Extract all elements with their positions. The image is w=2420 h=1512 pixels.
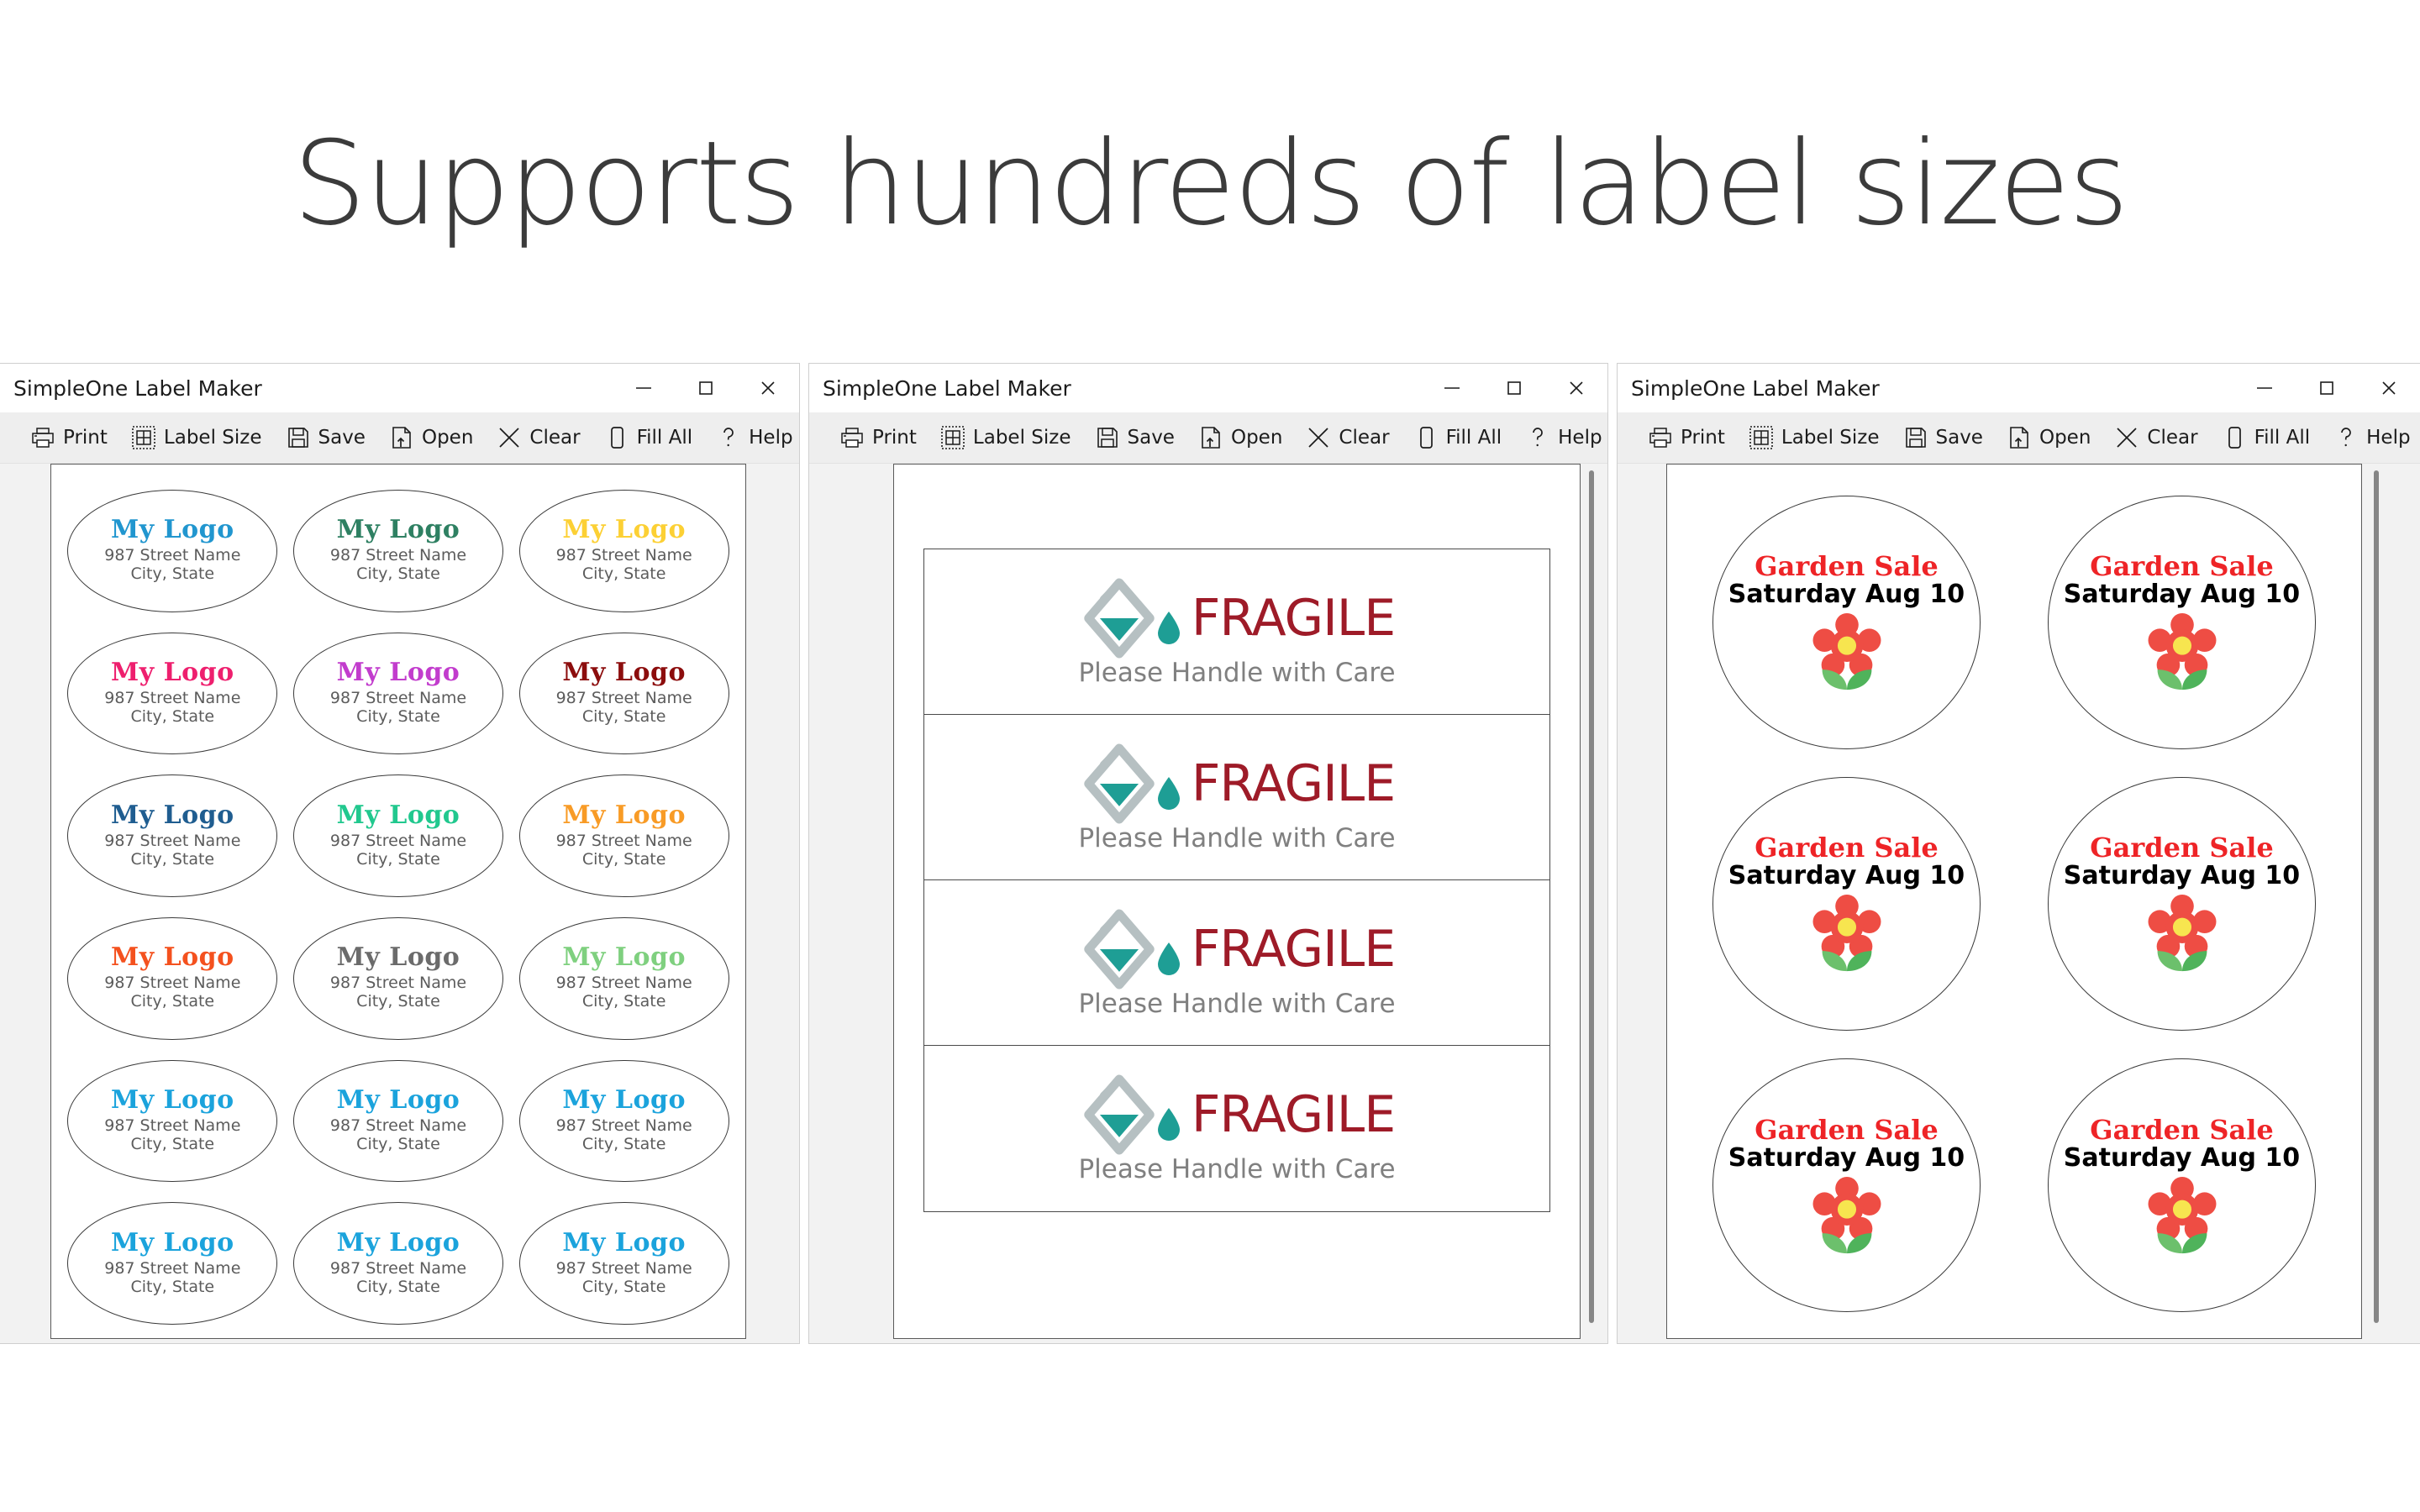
label-address: 987 Street NameCity, State bbox=[104, 832, 240, 869]
x-icon bbox=[1306, 425, 1331, 450]
label-address: 987 Street NameCity, State bbox=[330, 1260, 466, 1297]
oval-label-cell[interactable]: My Logo987 Street NameCity, State bbox=[60, 764, 286, 907]
label-address: 987 Street NameCity, State bbox=[556, 832, 692, 869]
address-line-2: City, State bbox=[104, 1136, 240, 1154]
maximize-button[interactable] bbox=[1483, 364, 1545, 412]
label-logo-text: My Logo bbox=[337, 1088, 460, 1113]
page-title: Supports hundreds of label sizes bbox=[0, 126, 2420, 242]
address-line-2: City, State bbox=[556, 565, 692, 584]
oval-label[interactable]: My Logo987 Street NameCity, State bbox=[67, 1060, 277, 1183]
oval-label-cell[interactable]: My Logo987 Street NameCity, State bbox=[60, 1050, 286, 1193]
address-line-1: 987 Street Name bbox=[556, 832, 692, 851]
clear-label: Clear bbox=[529, 427, 580, 449]
clear-button[interactable]: Clear bbox=[1294, 412, 1401, 463]
garden-sale-label-cell[interactable]: Garden SaleSaturday Aug 10 bbox=[1679, 481, 2014, 763]
toolbar: Print Label Size Save Open Clear Fill Al… bbox=[0, 412, 799, 464]
floppy-disk-icon bbox=[286, 425, 311, 450]
clear-label: Clear bbox=[1339, 427, 1389, 449]
x-icon bbox=[2114, 425, 2139, 450]
fragile-title: FRAGILE bbox=[1192, 1089, 1395, 1140]
x-icon bbox=[497, 425, 522, 450]
label-size-label: Label Size bbox=[1781, 427, 1880, 449]
window-label-maker-1: SimpleOne Label Maker Print Label Size S… bbox=[0, 363, 800, 1344]
label-address: 987 Street NameCity, State bbox=[556, 974, 692, 1011]
water-drop-icon bbox=[1156, 774, 1181, 811]
close-button[interactable] bbox=[2358, 364, 2420, 412]
garden-sale-title: Garden Sale bbox=[2090, 834, 2273, 861]
address-line-2: City, State bbox=[330, 1136, 466, 1154]
open-file-icon bbox=[389, 425, 414, 450]
printer-icon bbox=[1648, 425, 1673, 450]
address-line-2: City, State bbox=[330, 993, 466, 1011]
water-drop-icon bbox=[1156, 940, 1181, 977]
fragile-glass-icon bbox=[1079, 578, 1160, 659]
label-logo-text: My Logo bbox=[562, 660, 686, 685]
address-line-2: City, State bbox=[556, 993, 692, 1011]
oval-label[interactable]: My Logo987 Street NameCity, State bbox=[67, 633, 277, 755]
flower-icon bbox=[1808, 612, 1886, 691]
label-logo-text: My Logo bbox=[111, 660, 234, 685]
fragile-label-cell[interactable]: FRAGILEPlease Handle with Care bbox=[924, 1046, 1549, 1211]
garden-sale-label[interactable]: Garden SaleSaturday Aug 10 bbox=[1712, 496, 1981, 749]
print-label: Print bbox=[63, 427, 108, 449]
address-line-2: City, State bbox=[104, 1278, 240, 1297]
garden-sale-label[interactable]: Garden SaleSaturday Aug 10 bbox=[1712, 1058, 1981, 1312]
oval-label[interactable]: My Logo987 Street NameCity, State bbox=[519, 774, 729, 897]
oval-label[interactable]: My Logo987 Street NameCity, State bbox=[293, 1060, 503, 1183]
fragile-label-cell[interactable]: FRAGILEPlease Handle with Care bbox=[924, 715, 1549, 880]
label-logo-text: My Logo bbox=[562, 945, 686, 970]
water-drop-icon bbox=[1156, 609, 1181, 646]
garden-sale-date: Saturday Aug 10 bbox=[1728, 1146, 1965, 1171]
fragile-subtitle: Please Handle with Care bbox=[1078, 826, 1395, 852]
oval-label[interactable]: My Logo987 Street NameCity, State bbox=[519, 490, 729, 612]
fragile-subtitle: Please Handle with Care bbox=[1078, 1157, 1395, 1183]
oval-label-cell[interactable]: My Logo987 Street NameCity, State bbox=[286, 907, 512, 1050]
garden-sale-date: Saturday Aug 10 bbox=[1728, 582, 1965, 607]
label-logo-text: My Logo bbox=[337, 945, 460, 970]
oval-label-grid: My Logo987 Street NameCity, StateMy Logo… bbox=[60, 480, 737, 1335]
address-line-2: City, State bbox=[104, 993, 240, 1011]
window-controls bbox=[613, 364, 799, 412]
address-line-2: City, State bbox=[556, 851, 692, 869]
label-size-label: Label Size bbox=[973, 427, 1071, 449]
garden-sale-title: Garden Sale bbox=[1754, 1116, 1938, 1143]
label-address: 987 Street NameCity, State bbox=[556, 1117, 692, 1154]
address-line-1: 987 Street Name bbox=[104, 974, 240, 993]
save-button[interactable]: Save bbox=[1083, 412, 1186, 463]
fragile-glass-icon bbox=[1079, 743, 1160, 824]
toolbar: Print Label Size Save Open Clear Fill Al… bbox=[1618, 412, 2420, 464]
titlebar: SimpleOne Label Maker bbox=[1618, 364, 2420, 412]
oval-label[interactable]: My Logo987 Street NameCity, State bbox=[293, 490, 503, 612]
flower-icon bbox=[1808, 1176, 1886, 1255]
minimize-button[interactable] bbox=[613, 364, 675, 412]
titlebar: SimpleOne Label Maker bbox=[809, 364, 1607, 412]
question-mark-icon bbox=[716, 425, 741, 450]
oval-label[interactable]: My Logo987 Street NameCity, State bbox=[519, 1060, 729, 1183]
oval-label[interactable]: My Logo987 Street NameCity, State bbox=[519, 1202, 729, 1325]
oval-label[interactable]: My Logo987 Street NameCity, State bbox=[67, 1202, 277, 1325]
print-button[interactable]: Print bbox=[1636, 412, 1737, 463]
oval-label-cell[interactable]: My Logo987 Street NameCity, State bbox=[511, 622, 737, 765]
address-line-1: 987 Street Name bbox=[330, 547, 466, 565]
window-title: SimpleOne Label Maker bbox=[13, 376, 262, 401]
address-line-1: 987 Street Name bbox=[556, 690, 692, 708]
address-line-2: City, State bbox=[104, 851, 240, 869]
open-label: Open bbox=[2039, 427, 2091, 449]
fill-all-icon bbox=[1413, 425, 1439, 450]
label-logo-text: My Logo bbox=[111, 803, 234, 828]
label-address: 987 Street NameCity, State bbox=[556, 690, 692, 727]
label-size-button[interactable]: Label Size bbox=[929, 412, 1083, 463]
clear-button[interactable]: Clear bbox=[2102, 412, 2209, 463]
oval-label-cell[interactable]: My Logo987 Street NameCity, State bbox=[511, 1050, 737, 1193]
open-label: Open bbox=[1231, 427, 1282, 449]
address-line-2: City, State bbox=[104, 565, 240, 584]
open-button[interactable]: Open bbox=[1995, 412, 2102, 463]
oval-label-cell[interactable]: My Logo987 Street NameCity, State bbox=[60, 1192, 286, 1335]
minimize-button[interactable] bbox=[1421, 364, 1483, 412]
address-line-2: City, State bbox=[330, 708, 466, 727]
garden-sale-date: Saturday Aug 10 bbox=[2064, 1146, 2300, 1171]
fragile-glass-icon bbox=[1079, 909, 1160, 990]
fragile-title: FRAGILE bbox=[1192, 924, 1395, 974]
label-logo-text: My Logo bbox=[111, 517, 234, 543]
save-button[interactable]: Save bbox=[274, 412, 377, 463]
garden-sale-label-cell[interactable]: Garden SaleSaturday Aug 10 bbox=[2014, 481, 2349, 763]
garden-sale-label-cell[interactable]: Garden SaleSaturday Aug 10 bbox=[1679, 763, 2014, 1044]
label-canvas-3[interactable]: Garden SaleSaturday Aug 10Garden SaleSat… bbox=[1618, 464, 2420, 1344]
close-icon bbox=[1564, 375, 1589, 401]
address-line-1: 987 Street Name bbox=[104, 690, 240, 708]
toolbar: Print Label Size Save Open Clear Fill Al… bbox=[809, 412, 1607, 464]
label-size-button[interactable]: Label Size bbox=[1737, 412, 1891, 463]
oval-label[interactable]: My Logo987 Street NameCity, State bbox=[67, 774, 277, 897]
address-line-1: 987 Street Name bbox=[556, 1117, 692, 1136]
print-label: Print bbox=[872, 427, 917, 449]
minimize-icon bbox=[1439, 375, 1465, 401]
oval-label[interactable]: My Logo987 Street NameCity, State bbox=[293, 633, 503, 755]
address-line-2: City, State bbox=[556, 1278, 692, 1297]
fragile-title: FRAGILE bbox=[1192, 593, 1395, 643]
oval-label-cell[interactable]: My Logo987 Street NameCity, State bbox=[286, 1192, 512, 1335]
fill-all-label: Fill All bbox=[637, 427, 693, 449]
address-line-1: 987 Street Name bbox=[330, 974, 466, 993]
help-label: Help bbox=[1558, 427, 1602, 449]
oval-label[interactable]: My Logo987 Street NameCity, State bbox=[293, 917, 503, 1040]
print-button[interactable]: Print bbox=[828, 412, 929, 463]
fill-all-button[interactable]: Fill All bbox=[1402, 412, 1514, 463]
label-logo-text: My Logo bbox=[111, 1231, 234, 1256]
maximize-icon bbox=[2314, 375, 2339, 401]
fill-all-label: Fill All bbox=[2254, 427, 2311, 449]
close-button[interactable] bbox=[737, 364, 799, 412]
close-icon bbox=[755, 375, 781, 401]
label-address: 987 Street NameCity, State bbox=[556, 547, 692, 584]
open-button[interactable]: Open bbox=[1186, 412, 1294, 463]
oval-label-cell[interactable]: My Logo987 Street NameCity, State bbox=[60, 622, 286, 765]
oval-label[interactable]: My Logo987 Street NameCity, State bbox=[67, 917, 277, 1040]
window-title: SimpleOne Label Maker bbox=[1631, 376, 1880, 401]
help-button[interactable]: Help bbox=[2322, 412, 2420, 463]
fragile-subtitle: Please Handle with Care bbox=[1078, 991, 1395, 1017]
minimize-icon bbox=[631, 375, 656, 401]
label-canvas-1[interactable]: My Logo987 Street NameCity, StateMy Logo… bbox=[0, 464, 799, 1344]
address-line-1: 987 Street Name bbox=[330, 1260, 466, 1278]
minimize-icon bbox=[2252, 375, 2277, 401]
save-label: Save bbox=[1936, 427, 1983, 449]
grid-icon bbox=[1749, 425, 1774, 450]
label-address: 987 Street NameCity, State bbox=[104, 547, 240, 584]
garden-sale-label[interactable]: Garden SaleSaturday Aug 10 bbox=[1712, 777, 1981, 1031]
fill-all-icon bbox=[2222, 425, 2247, 450]
garden-sale-title: Garden Sale bbox=[1754, 834, 1938, 861]
garden-sale-title: Garden Sale bbox=[1754, 553, 1938, 580]
address-line-1: 987 Street Name bbox=[104, 832, 240, 851]
window-label-maker-3: SimpleOne Label Maker Print Label Size S… bbox=[1617, 363, 2420, 1344]
address-line-2: City, State bbox=[330, 1278, 466, 1297]
label-logo-text: My Logo bbox=[111, 1088, 234, 1113]
maximize-button[interactable] bbox=[675, 364, 737, 412]
garden-sale-label-grid: Garden SaleSaturday Aug 10Garden SaleSat… bbox=[1679, 481, 2349, 1326]
maximize-button[interactable] bbox=[2296, 364, 2358, 412]
garden-sale-label[interactable]: Garden SaleSaturday Aug 10 bbox=[2048, 496, 2316, 749]
help-button[interactable]: Help bbox=[704, 412, 800, 463]
address-line-1: 987 Street Name bbox=[104, 1260, 240, 1278]
oval-label-cell[interactable]: My Logo987 Street NameCity, State bbox=[511, 480, 737, 622]
label-page-1: My Logo987 Street NameCity, StateMy Logo… bbox=[50, 464, 746, 1339]
clear-button[interactable]: Clear bbox=[485, 412, 592, 463]
label-page-2: FRAGILEPlease Handle with CareFRAGILEPle… bbox=[893, 464, 1581, 1339]
label-logo-text: My Logo bbox=[562, 803, 686, 828]
garden-sale-title: Garden Sale bbox=[2090, 1116, 2273, 1143]
help-label: Help bbox=[2366, 427, 2410, 449]
address-line-1: 987 Street Name bbox=[556, 974, 692, 993]
address-line-2: City, State bbox=[330, 851, 466, 869]
save-button[interactable]: Save bbox=[1891, 412, 1995, 463]
oval-label-cell[interactable]: My Logo987 Street NameCity, State bbox=[511, 764, 737, 907]
maximize-icon bbox=[693, 375, 718, 401]
label-address: 987 Street NameCity, State bbox=[104, 1117, 240, 1154]
titlebar: SimpleOne Label Maker bbox=[0, 364, 799, 412]
print-label: Print bbox=[1681, 427, 1725, 449]
label-size-label: Label Size bbox=[164, 427, 262, 449]
label-address: 987 Street NameCity, State bbox=[330, 974, 466, 1011]
garden-sale-label[interactable]: Garden SaleSaturday Aug 10 bbox=[2048, 777, 2316, 1031]
label-page-3: Garden SaleSaturday Aug 10Garden SaleSat… bbox=[1666, 464, 2362, 1339]
minimize-button[interactable] bbox=[2233, 364, 2296, 412]
label-address: 987 Street NameCity, State bbox=[330, 1117, 466, 1154]
help-button[interactable]: Help bbox=[1513, 412, 1608, 463]
label-size-button[interactable]: Label Size bbox=[119, 412, 274, 463]
print-button[interactable]: Print bbox=[18, 412, 119, 463]
save-label: Save bbox=[318, 427, 366, 449]
window-label-maker-2: SimpleOne Label Maker Print Label Size S… bbox=[808, 363, 1608, 1344]
oval-label-cell[interactable]: My Logo987 Street NameCity, State bbox=[60, 907, 286, 1050]
fragile-label-cell[interactable]: FRAGILEPlease Handle with Care bbox=[924, 880, 1549, 1046]
fragile-glass-icon bbox=[1079, 1074, 1160, 1155]
address-line-1: 987 Street Name bbox=[330, 832, 466, 851]
flower-icon bbox=[2144, 612, 2221, 691]
garden-sale-title: Garden Sale bbox=[2090, 553, 2273, 580]
fill-all-button[interactable]: Fill All bbox=[2210, 412, 2323, 463]
oval-label-cell[interactable]: My Logo987 Street NameCity, State bbox=[286, 764, 512, 907]
address-line-1: 987 Street Name bbox=[330, 690, 466, 708]
label-address: 987 Street NameCity, State bbox=[556, 1260, 692, 1297]
flower-icon bbox=[2144, 1176, 2221, 1255]
fill-all-label: Fill All bbox=[1446, 427, 1502, 449]
oval-label-cell[interactable]: My Logo987 Street NameCity, State bbox=[286, 622, 512, 765]
label-logo-text: My Logo bbox=[562, 1088, 686, 1113]
vertical-scrollbar[interactable] bbox=[1589, 470, 1594, 1323]
oval-label[interactable]: My Logo987 Street NameCity, State bbox=[293, 774, 503, 897]
vertical-scrollbar[interactable] bbox=[2374, 470, 2379, 1323]
window-title: SimpleOne Label Maker bbox=[823, 376, 1071, 401]
address-line-1: 987 Street Name bbox=[104, 547, 240, 565]
fragile-subtitle: Please Handle with Care bbox=[1078, 660, 1395, 686]
window-controls bbox=[1421, 364, 1607, 412]
address-line-1: 987 Street Name bbox=[104, 1117, 240, 1136]
address-line-1: 987 Street Name bbox=[556, 547, 692, 565]
address-line-1: 987 Street Name bbox=[330, 1117, 466, 1136]
oval-label[interactable]: My Logo987 Street NameCity, State bbox=[67, 490, 277, 612]
open-button[interactable]: Open bbox=[377, 412, 485, 463]
garden-sale-date: Saturday Aug 10 bbox=[2064, 582, 2300, 607]
label-address: 987 Street NameCity, State bbox=[330, 832, 466, 869]
garden-sale-label[interactable]: Garden SaleSaturday Aug 10 bbox=[2048, 1058, 2316, 1312]
fragile-title: FRAGILE bbox=[1192, 759, 1395, 809]
grid-icon bbox=[131, 425, 156, 450]
open-label: Open bbox=[422, 427, 473, 449]
label-address: 987 Street NameCity, State bbox=[104, 974, 240, 1011]
window-controls bbox=[2233, 364, 2420, 412]
oval-label[interactable]: My Logo987 Street NameCity, State bbox=[293, 1202, 503, 1325]
floppy-disk-icon bbox=[1095, 425, 1120, 450]
label-address: 987 Street NameCity, State bbox=[330, 547, 466, 584]
oval-label-cell[interactable]: My Logo987 Street NameCity, State bbox=[60, 480, 286, 622]
oval-label-cell[interactable]: My Logo987 Street NameCity, State bbox=[511, 1192, 737, 1335]
garden-sale-label-cell[interactable]: Garden SaleSaturday Aug 10 bbox=[1679, 1045, 2014, 1326]
address-line-2: City, State bbox=[330, 565, 466, 584]
clear-label: Clear bbox=[2147, 427, 2197, 449]
floppy-disk-icon bbox=[1903, 425, 1928, 450]
address-line-2: City, State bbox=[104, 708, 240, 727]
close-icon bbox=[2376, 375, 2402, 401]
garden-sale-label-cell[interactable]: Garden SaleSaturday Aug 10 bbox=[2014, 763, 2349, 1044]
address-line-2: City, State bbox=[556, 1136, 692, 1154]
label-logo-text: My Logo bbox=[562, 517, 686, 543]
oval-label-cell[interactable]: My Logo987 Street NameCity, State bbox=[286, 480, 512, 622]
label-logo-text: My Logo bbox=[111, 945, 234, 970]
fill-all-button[interactable]: Fill All bbox=[592, 412, 705, 463]
label-logo-text: My Logo bbox=[562, 1231, 686, 1256]
close-button[interactable] bbox=[1545, 364, 1607, 412]
label-address: 987 Street NameCity, State bbox=[104, 690, 240, 727]
question-mark-icon bbox=[2333, 425, 2359, 450]
garden-sale-date: Saturday Aug 10 bbox=[2064, 864, 2300, 889]
open-file-icon bbox=[1198, 425, 1223, 450]
label-logo-text: My Logo bbox=[337, 1231, 460, 1256]
label-address: 987 Street NameCity, State bbox=[104, 1260, 240, 1297]
address-line-2: City, State bbox=[556, 708, 692, 727]
grid-icon bbox=[940, 425, 965, 450]
oval-label-cell[interactable]: My Logo987 Street NameCity, State bbox=[286, 1050, 512, 1193]
flower-icon bbox=[1808, 894, 1886, 973]
flower-icon bbox=[2144, 894, 2221, 973]
label-logo-text: My Logo bbox=[337, 517, 460, 543]
label-address: 987 Street NameCity, State bbox=[330, 690, 466, 727]
address-line-1: 987 Street Name bbox=[556, 1260, 692, 1278]
oval-label-cell[interactable]: My Logo987 Street NameCity, State bbox=[511, 907, 737, 1050]
printer-icon bbox=[30, 425, 55, 450]
fragile-label-stack: FRAGILEPlease Handle with CareFRAGILEPle… bbox=[923, 549, 1550, 1212]
question-mark-icon bbox=[1525, 425, 1550, 450]
open-file-icon bbox=[2007, 425, 2032, 450]
label-logo-text: My Logo bbox=[337, 803, 460, 828]
save-label: Save bbox=[1128, 427, 1175, 449]
printer-icon bbox=[839, 425, 865, 450]
water-drop-icon bbox=[1156, 1105, 1181, 1142]
garden-sale-label-cell[interactable]: Garden SaleSaturday Aug 10 bbox=[2014, 1045, 2349, 1326]
label-logo-text: My Logo bbox=[337, 660, 460, 685]
oval-label[interactable]: My Logo987 Street NameCity, State bbox=[519, 917, 729, 1040]
fill-all-icon bbox=[604, 425, 629, 450]
label-canvas-2[interactable]: FRAGILEPlease Handle with CareFRAGILEPle… bbox=[809, 464, 1607, 1344]
fragile-label-cell[interactable]: FRAGILEPlease Handle with Care bbox=[924, 549, 1549, 715]
garden-sale-date: Saturday Aug 10 bbox=[1728, 864, 1965, 889]
maximize-icon bbox=[1502, 375, 1527, 401]
oval-label[interactable]: My Logo987 Street NameCity, State bbox=[519, 633, 729, 755]
help-label: Help bbox=[749, 427, 792, 449]
